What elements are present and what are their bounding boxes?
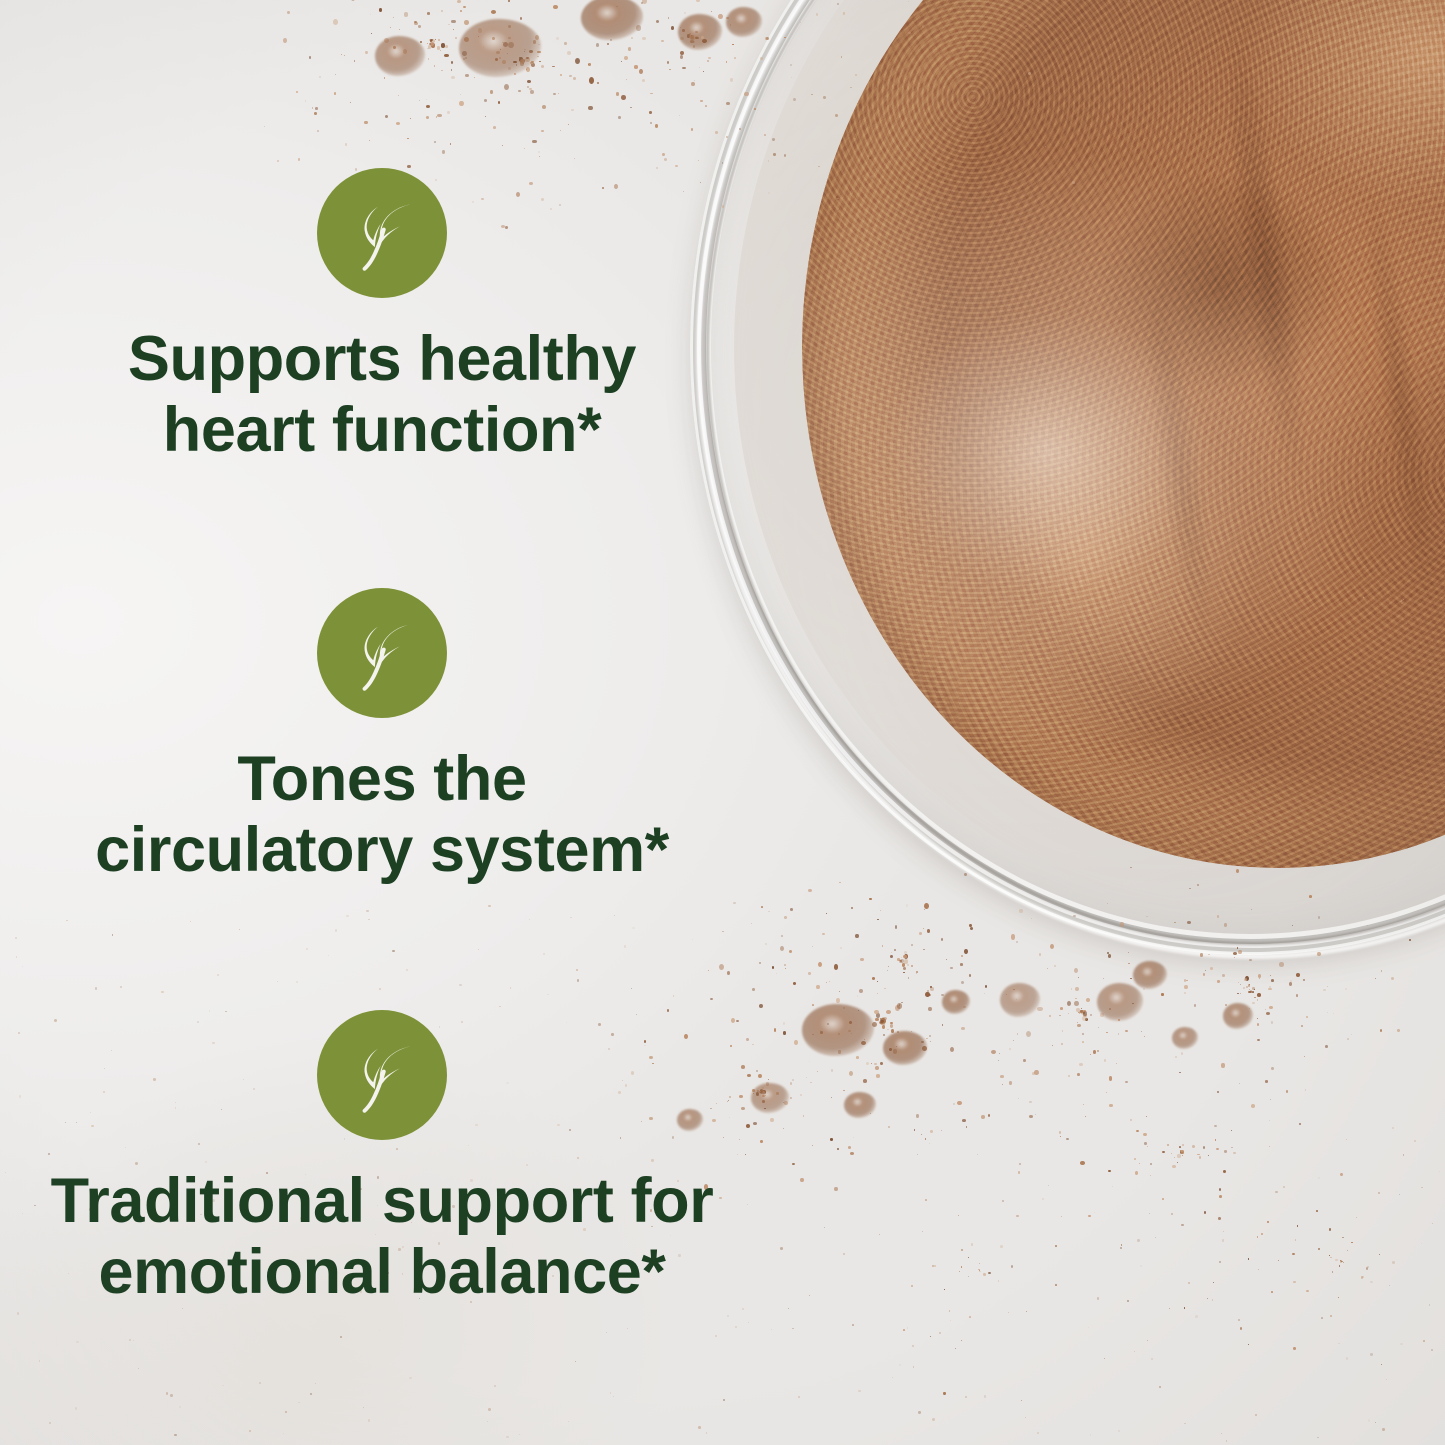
sprout-leaf-icon bbox=[317, 588, 447, 718]
benefit-item-heart-function: Supports healthy heart function* bbox=[2, 168, 762, 466]
glass-bowl bbox=[690, 0, 1445, 970]
benefit-label: Supports healthy heart function* bbox=[2, 324, 762, 466]
benefit-item-emotional-balance: Traditional support for emotional balanc… bbox=[2, 1010, 762, 1308]
benefit-label: Tones the circulatory system* bbox=[2, 744, 762, 886]
benefit-item-circulatory-system: Tones the circulatory system* bbox=[2, 588, 762, 886]
bowl-rim-highlight bbox=[696, 0, 1445, 959]
sprout-leaf-icon bbox=[317, 168, 447, 298]
sprout-leaf-icon bbox=[317, 1010, 447, 1140]
product-benefits-panel: Supports healthy heart function* Tones t… bbox=[0, 0, 1445, 1445]
benefit-label: Traditional support for emotional balanc… bbox=[2, 1166, 762, 1308]
